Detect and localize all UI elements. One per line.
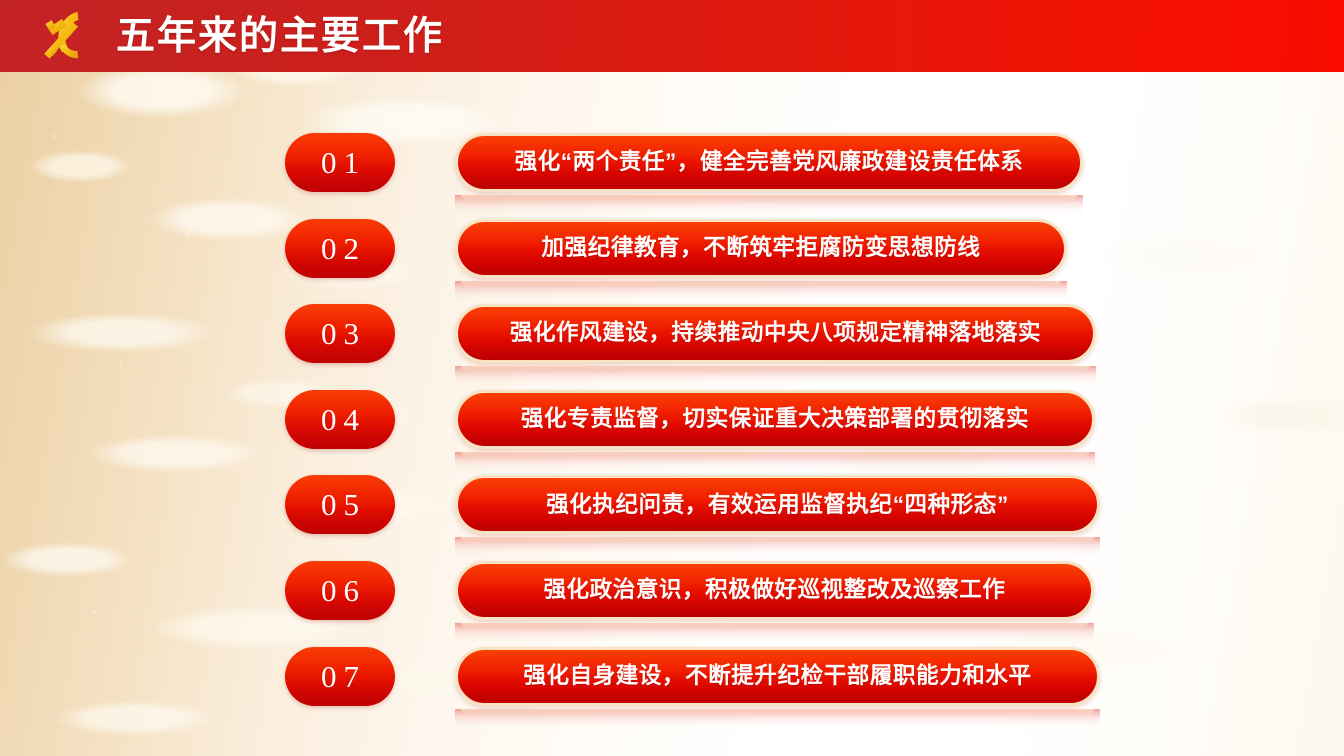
item-bar-reflection xyxy=(455,709,1100,735)
item-number-label: 01 xyxy=(314,147,366,178)
item-bar-wrapper: 强化自身建设，不断提升纪检干部履职能力和水平 xyxy=(455,647,1100,706)
item-bar[interactable]: 加强纪律教育，不断筑牢拒腐防变思想防线 xyxy=(455,219,1067,278)
item-bar[interactable]: 强化专责监督，切实保证重大决策部署的贯彻落实 xyxy=(455,390,1095,449)
header-bar: 五年来的主要工作 xyxy=(0,0,1344,72)
item-number-badge[interactable]: 07 xyxy=(285,647,395,706)
item-text-label: 强化专责监督，切实保证重大决策部署的贯彻落实 xyxy=(521,408,1029,431)
list-item[interactable]: 02 加强纪律教育，不断筑牢拒腐防变思想防线 xyxy=(0,219,1344,305)
list-item[interactable]: 03 强化作风建设，持续推动中央八项规定精神落地落实 xyxy=(0,304,1344,390)
list-item[interactable]: 01 强化“两个责任”，健全完善党风廉政建设责任体系 xyxy=(0,133,1344,219)
item-number-label: 04 xyxy=(314,404,366,435)
item-text-label: 强化执纪问责，有效运用监督执纪“四种形态” xyxy=(546,494,1009,517)
item-number-badge[interactable]: 03 xyxy=(285,304,395,363)
item-bar[interactable]: 强化政治意识，积极做好巡视整改及巡察工作 xyxy=(455,561,1094,620)
item-bar-reflection xyxy=(455,366,1096,392)
item-number-label: 05 xyxy=(314,489,366,520)
slide-root: 五年来的主要工作 01 强化“两个责任”，健全完善党风廉政建设责任体系 02 加… xyxy=(0,0,1344,756)
item-bar-reflection xyxy=(455,623,1094,649)
item-number-label: 02 xyxy=(314,233,366,264)
list-item[interactable]: 06 强化政治意识，积极做好巡视整改及巡察工作 xyxy=(0,561,1344,647)
item-bar-reflection xyxy=(455,281,1067,307)
item-bar[interactable]: 强化自身建设，不断提升纪检干部履职能力和水平 xyxy=(455,647,1100,706)
work-items-list: 01 强化“两个责任”，健全完善党风廉政建设责任体系 02 加强纪律教育，不断筑… xyxy=(0,133,1344,732)
item-bar-reflection xyxy=(455,537,1100,563)
item-bar-wrapper: 强化执纪问责，有效运用监督执纪“四种形态” xyxy=(455,475,1100,534)
item-bar-reflection xyxy=(455,452,1095,478)
item-text-label: 强化“两个责任”，健全完善党风廉政建设责任体系 xyxy=(515,151,1024,174)
list-item[interactable]: 04 强化专责监督，切实保证重大决策部署的贯彻落实 xyxy=(0,390,1344,476)
item-bar[interactable]: 强化执纪问责，有效运用监督执纪“四种形态” xyxy=(455,475,1100,534)
item-bar[interactable]: 强化作风建设，持续推动中央八项规定精神落地落实 xyxy=(455,304,1096,363)
item-number-badge[interactable]: 01 xyxy=(285,133,395,192)
item-bar[interactable]: 强化“两个责任”，健全完善党风廉政建设责任体系 xyxy=(455,133,1083,192)
item-bar-wrapper: 强化“两个责任”，健全完善党风廉政建设责任体系 xyxy=(455,133,1083,192)
hammer-and-sickle-icon xyxy=(32,8,94,64)
item-number-badge[interactable]: 05 xyxy=(285,475,395,534)
item-bar-wrapper: 强化政治意识，积极做好巡视整改及巡察工作 xyxy=(455,561,1094,620)
page-title: 五年来的主要工作 xyxy=(116,17,444,56)
item-bar-wrapper: 加强纪律教育，不断筑牢拒腐防变思想防线 xyxy=(455,219,1067,278)
item-bar-wrapper: 强化作风建设，持续推动中央八项规定精神落地落实 xyxy=(455,304,1096,363)
list-item[interactable]: 07 强化自身建设，不断提升纪检干部履职能力和水平 xyxy=(0,647,1344,733)
item-number-label: 03 xyxy=(314,318,366,349)
item-number-label: 06 xyxy=(314,575,366,606)
item-number-badge[interactable]: 06 xyxy=(285,561,395,620)
item-text-label: 强化自身建设，不断提升纪检干部履职能力和水平 xyxy=(523,665,1031,688)
item-bar-wrapper: 强化专责监督，切实保证重大决策部署的贯彻落实 xyxy=(455,390,1095,449)
item-number-badge[interactable]: 02 xyxy=(285,219,395,278)
list-item[interactable]: 05 强化执纪问责，有效运用监督执纪“四种形态” xyxy=(0,475,1344,561)
item-bar-reflection xyxy=(455,195,1083,221)
item-text-label: 加强纪律教育，不断筑牢拒腐防变思想防线 xyxy=(542,237,981,260)
item-number-label: 07 xyxy=(314,661,366,692)
item-text-label: 强化作风建设，持续推动中央八项规定精神落地落实 xyxy=(510,322,1041,345)
item-number-badge[interactable]: 04 xyxy=(285,390,395,449)
item-text-label: 强化政治意识，积极做好巡视整改及巡察工作 xyxy=(543,579,1005,602)
